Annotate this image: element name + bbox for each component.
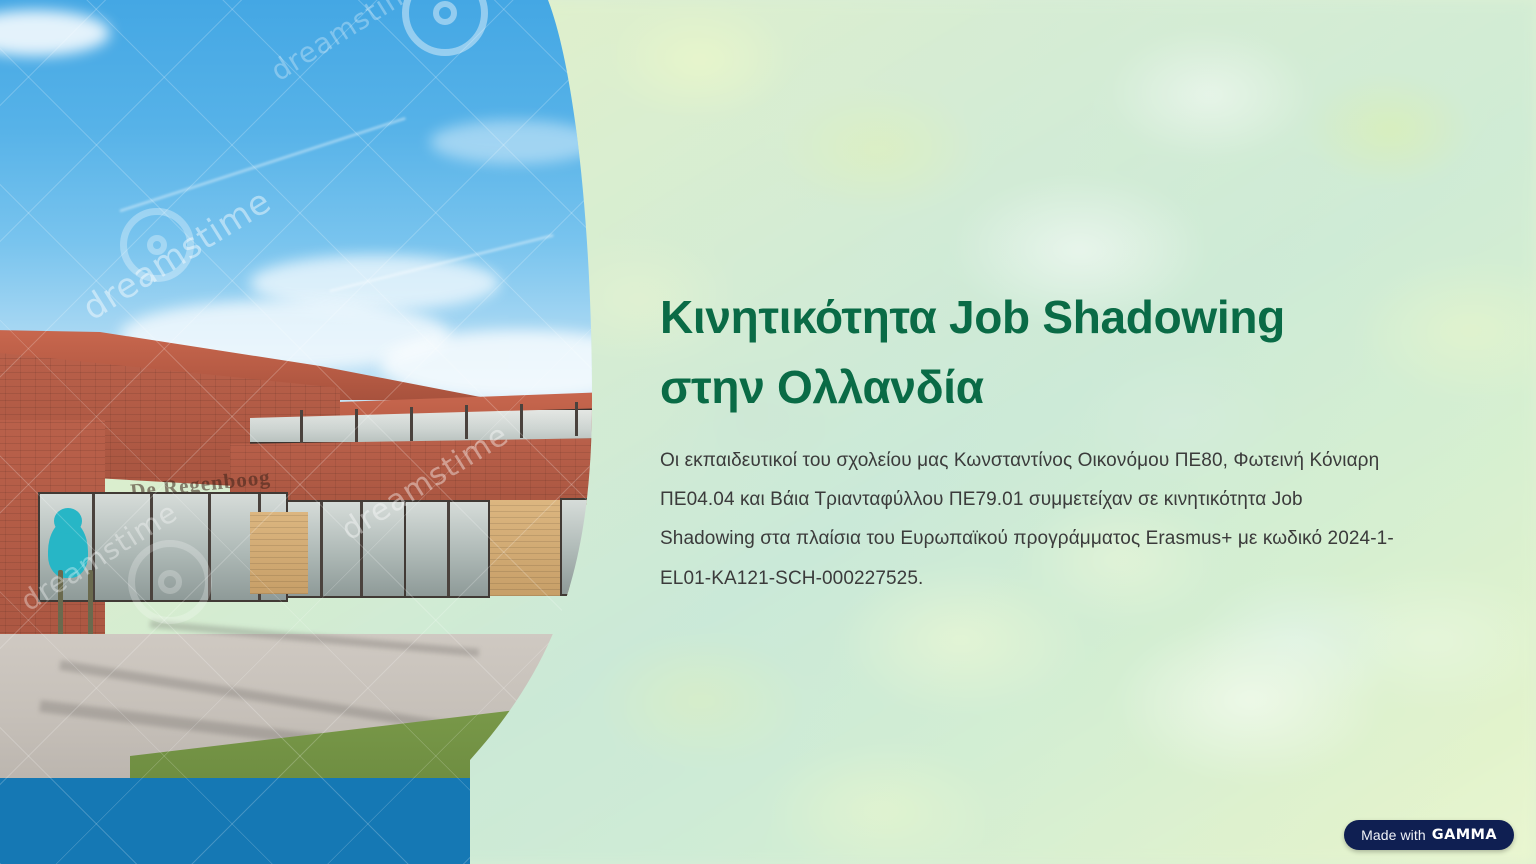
window-mullion xyxy=(465,405,468,439)
text-content-column: Κινητικότητα Job Shadowing στην Ολλανδία… xyxy=(660,283,1400,598)
slide-body-paragraph: Οι εκπαιδευτικοί του σχολείου μας Κωνστα… xyxy=(660,441,1400,598)
slide-canvas: De Regenboog xyxy=(0,0,1536,864)
duck-decal-head-icon xyxy=(54,508,82,534)
cloud xyxy=(430,120,600,164)
window-mullion xyxy=(447,502,450,596)
badge-made-with-label: Made with xyxy=(1361,827,1426,843)
window-mullion xyxy=(208,494,211,600)
badge-gamma-wordmark: GAMMA xyxy=(1432,827,1497,843)
window-mullion xyxy=(575,402,578,436)
window-mullion xyxy=(410,407,413,441)
window-mullion xyxy=(150,494,153,600)
slide-title: Κινητικότητα Job Shadowing στην Ολλανδία xyxy=(660,283,1400,423)
window-mullion xyxy=(520,404,523,438)
window-mullion xyxy=(320,502,323,596)
window-mullion xyxy=(360,502,363,596)
window-mullion xyxy=(355,409,358,443)
wood-cladding-panel xyxy=(250,512,308,594)
wood-cladding-panel xyxy=(490,500,570,596)
made-with-gamma-badge[interactable]: Made with GAMMA xyxy=(1344,820,1514,850)
window-mullion xyxy=(300,410,303,444)
